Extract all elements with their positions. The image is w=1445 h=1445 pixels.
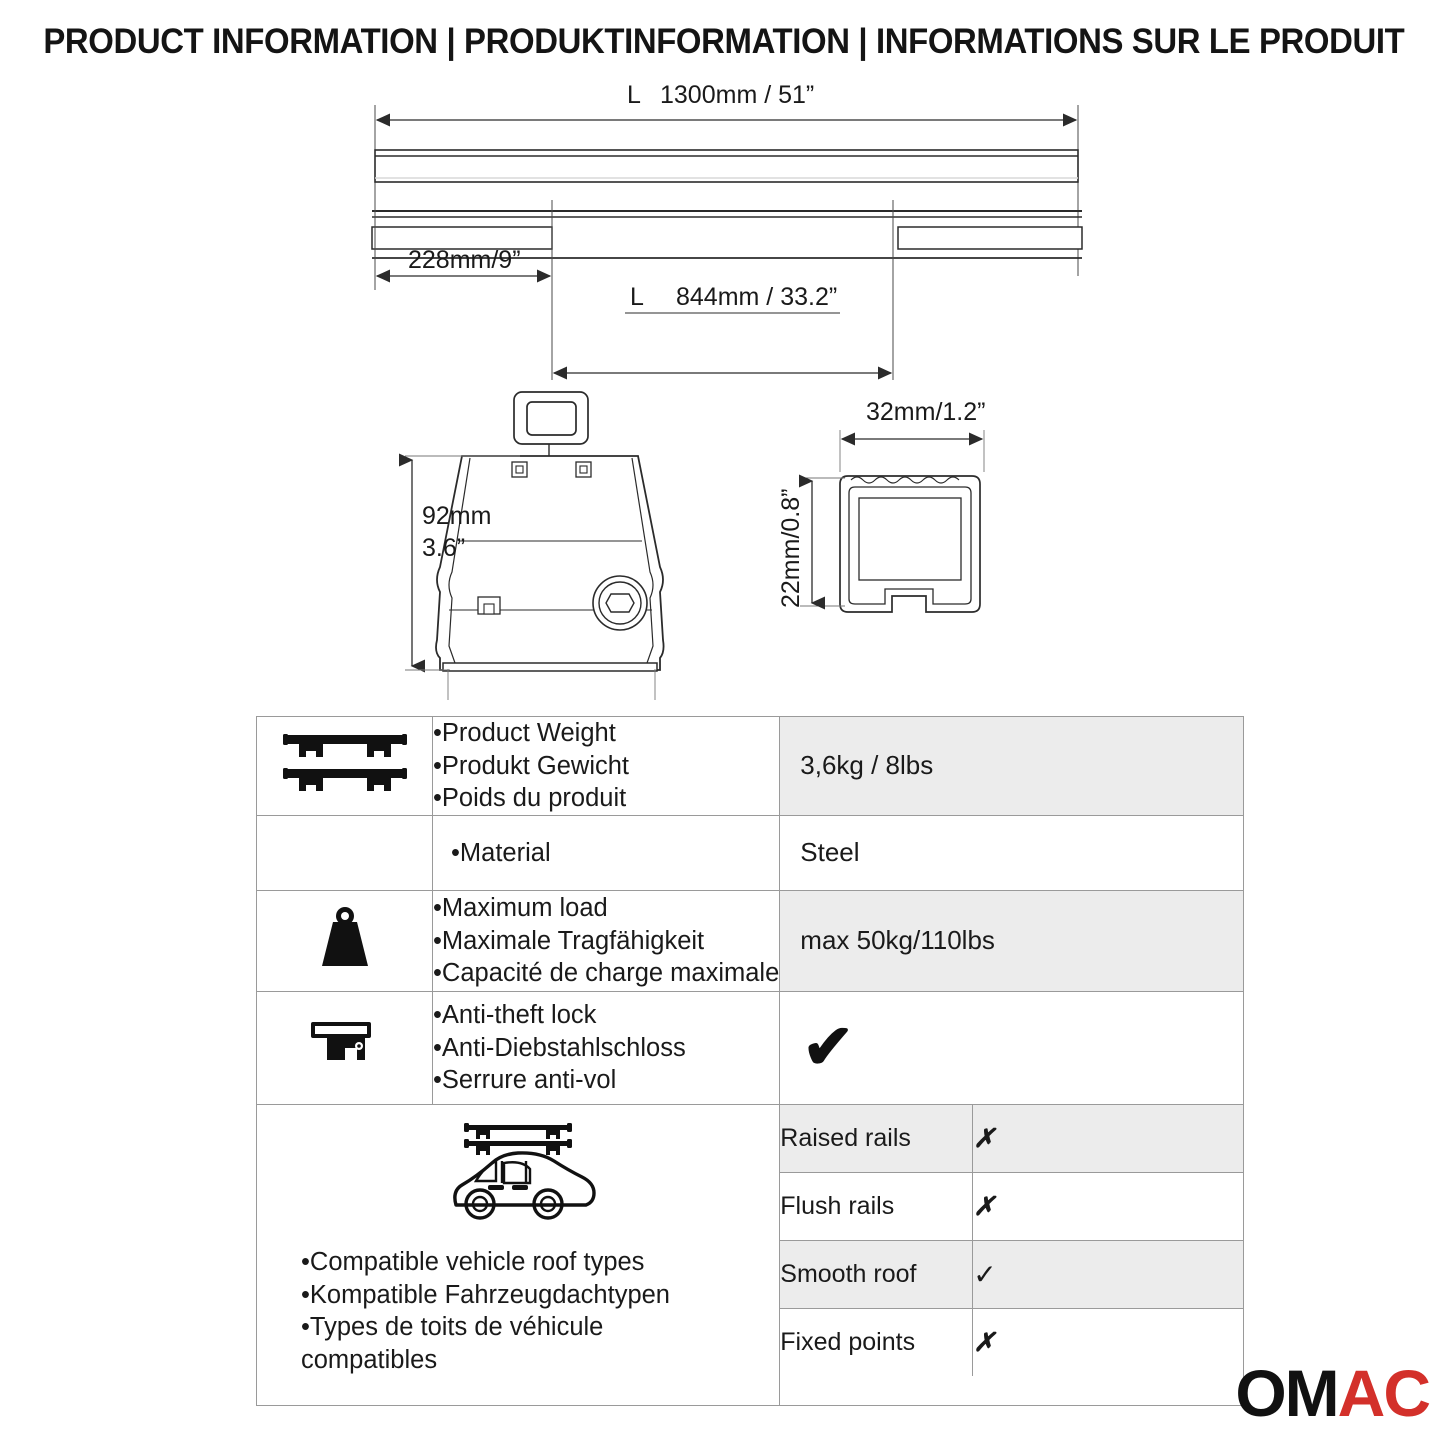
label-line: •Maximum load <box>433 892 779 925</box>
spec-table: •Product Weight •Produkt Gewicht •Poids … <box>256 716 1244 1406</box>
table-row: •Material Steel <box>257 815 1244 890</box>
anti-theft-icon-cell <box>257 991 433 1104</box>
product-weight-label-cell: •Product Weight •Produkt Gewicht •Poids … <box>433 717 780 816</box>
foot-height-in: 3.6” <box>422 534 465 562</box>
anti-theft-label-cell: •Anti-theft lock •Anti-Diebstahlschloss … <box>433 991 780 1104</box>
roof-type-row: Flush rails ✗ <box>780 1172 1243 1240</box>
material-value-cell: Steel <box>780 815 1244 890</box>
label-line: •Produkt Gewicht <box>433 750 779 783</box>
roof-type-mark: ✗ <box>973 1172 1243 1240</box>
table-row: •Maximum load •Maximale Tragfähigkeit •C… <box>257 890 1244 991</box>
roof-type-row: Raised rails ✗ <box>780 1105 1243 1173</box>
label-line: •Poids du produit <box>433 782 779 815</box>
label-line: •Types de toits de véhicule <box>301 1311 779 1344</box>
logo-text-red: AC <box>1338 1356 1429 1430</box>
weight-icon <box>316 905 374 976</box>
label-line: •Serrure anti-vol <box>433 1064 779 1097</box>
page-title: PRODUCT INFORMATION | PRODUKTINFORMATION… <box>43 22 1401 62</box>
span-prefix: L <box>630 283 644 311</box>
product-weight-icon-cell <box>257 717 433 816</box>
label-line: •Anti-Diebstahlschloss <box>433 1032 779 1065</box>
table-row: •Product Weight •Produkt Gewicht •Poids … <box>257 717 1244 816</box>
roof-type-name: Raised rails <box>780 1105 973 1173</box>
label-line: •Kompatible Fahrzeugdachtypen <box>301 1279 779 1312</box>
material-value: Steel <box>780 837 1243 868</box>
max-load-label-cell: •Maximum load •Maximale Tragfähigkeit •C… <box>433 890 780 991</box>
label-line: •Compatible vehicle roof types <box>301 1246 779 1279</box>
max-load-icon-cell <box>257 890 433 991</box>
roof-type-name: Flush rails <box>780 1172 973 1240</box>
roof-type-mark: ✗ <box>973 1308 1243 1376</box>
lock-foot-icon <box>309 1020 381 1075</box>
two-roof-bars-icon <box>281 729 409 802</box>
product-weight-value-cell: 3,6kg / 8lbs <box>780 717 1244 816</box>
roof-type-row: Fixed points ✗ <box>780 1308 1243 1376</box>
max-load-value: max 50kg/110lbs <box>780 925 1243 956</box>
label-line: •Material <box>433 837 779 870</box>
check-icon: ✔ <box>780 1017 1243 1079</box>
roof-type-row: Smooth roof ✓ <box>780 1240 1243 1308</box>
span-dimension: 844mm / 33.2” <box>676 283 837 311</box>
roof-types-table: Raised rails ✗ Flush rails ✗ Smooth roof <box>780 1105 1243 1376</box>
logo-text-dark: OM <box>1235 1356 1337 1430</box>
material-label-cell: •Material <box>433 815 780 890</box>
roof-type-mark: ✗ <box>973 1105 1243 1173</box>
technical-drawing-area: L 1300mm / 51” 228mm/9” L 844mm / 33.2” <box>0 80 1445 700</box>
profile-height-dimension: 22mm/0.8” <box>777 489 805 608</box>
label-line: •Product Weight <box>433 717 779 750</box>
roof-type-name: Smooth roof <box>780 1240 973 1308</box>
profile-width-dimension: 32mm/1.2” <box>866 398 985 426</box>
bar-length-dimension: 1300mm / 51” <box>660 81 814 109</box>
roof-types-cell: Raised rails ✗ Flush rails ✗ Smooth roof <box>780 1104 1244 1405</box>
label-line: compatibles <box>301 1344 779 1377</box>
anti-theft-value-cell: ✔ <box>780 991 1244 1104</box>
table-row: •Anti-theft lock •Anti-Diebstahlschloss … <box>257 991 1244 1104</box>
table-row: •Compatible vehicle roof types •Kompatib… <box>257 1104 1244 1405</box>
omac-logo: OMAC <box>1235 1355 1429 1431</box>
bar-length-prefix: L <box>627 81 641 109</box>
roof-type-name: Fixed points <box>780 1308 973 1376</box>
product-information-sheet: PRODUCT INFORMATION | PRODUKTINFORMATION… <box>0 0 1445 1445</box>
material-icon-cell <box>257 815 433 890</box>
foot-offset-dimension: 228mm/9” <box>408 246 521 274</box>
roof-type-mark: ✓ <box>973 1240 1243 1308</box>
label-line: •Capacité de charge maximale <box>433 957 779 990</box>
car-with-roof-bars-icon <box>438 1119 598 1232</box>
label-line: •Maximale Tragfähigkeit <box>433 925 779 958</box>
label-line: •Anti-theft lock <box>433 999 779 1032</box>
product-weight-value: 3,6kg / 8lbs <box>780 750 1243 781</box>
compat-label-cell: •Compatible vehicle roof types •Kompatib… <box>257 1104 780 1405</box>
max-load-value-cell: max 50kg/110lbs <box>780 890 1244 991</box>
foot-height-mm: 92mm <box>422 502 491 530</box>
